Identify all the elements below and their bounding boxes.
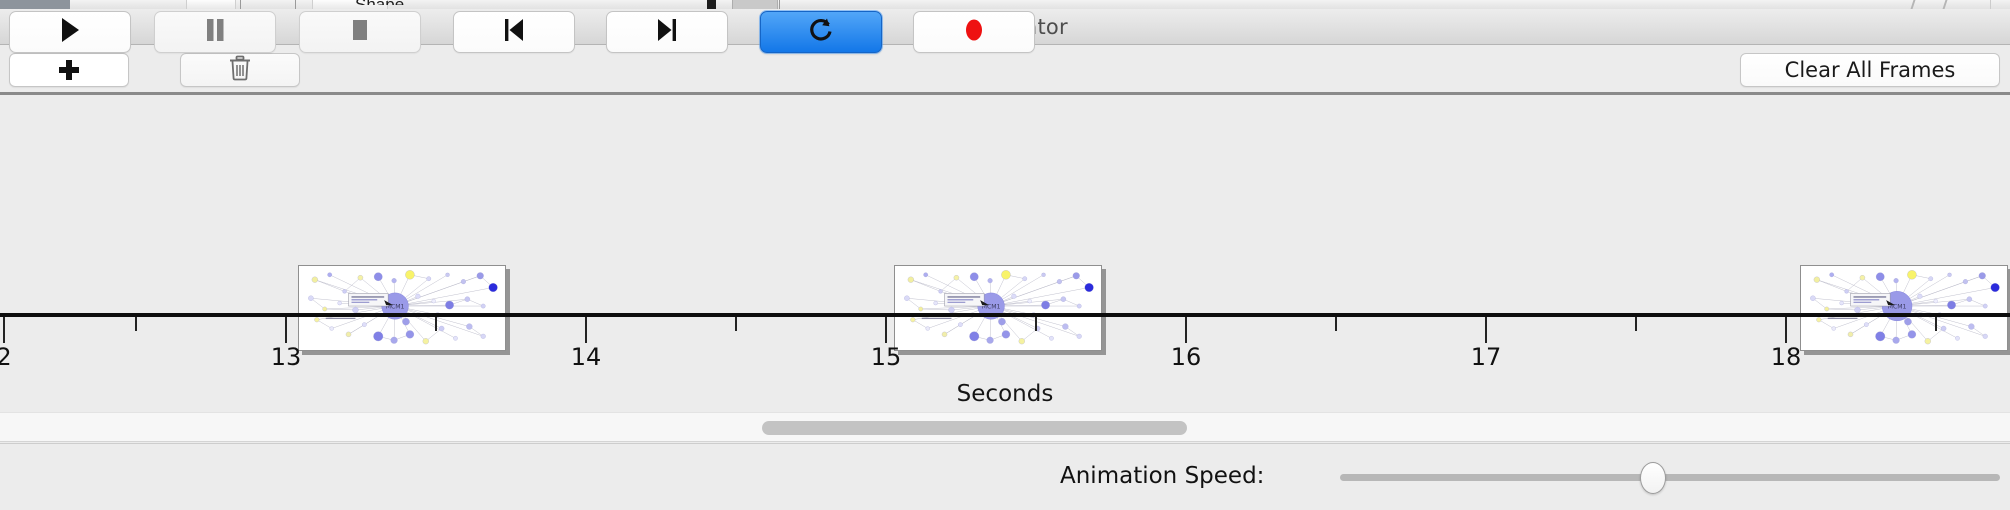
axis-tick-major — [1785, 317, 1787, 343]
timeline-frame-3[interactable]: MCM1 — [1800, 265, 2008, 351]
background-slash-a — [1911, 0, 1916, 9]
loop-icon — [807, 15, 835, 50]
background-window-titlebar — [0, 0, 70, 9]
axis-tick-major — [885, 317, 887, 343]
axis-tick-minor — [735, 317, 737, 331]
delete-frame-button[interactable] — [180, 53, 300, 87]
background-tab-a — [186, 0, 236, 9]
play-icon — [57, 16, 83, 49]
axis-tick-major — [585, 317, 587, 343]
timeline-frame-1[interactable]: MCM1 — [298, 265, 506, 351]
axis-tick-label: 17 — [1471, 343, 1502, 371]
timeline-axis — [0, 313, 2010, 317]
background-divider-c — [779, 0, 780, 9]
axis-tick-major — [3, 317, 5, 343]
loop-button[interactable] — [760, 11, 882, 53]
background-divider-a — [240, 0, 241, 9]
axis-tick-major — [1185, 317, 1187, 343]
trash-icon — [228, 55, 252, 86]
pause-button — [154, 11, 276, 53]
add-frame-button[interactable] — [9, 53, 129, 87]
axis-tick-minor — [435, 317, 437, 331]
timeline-scrollbar-thumb[interactable] — [762, 421, 1187, 435]
axis-tick-label: 13 — [271, 343, 302, 371]
record-icon — [961, 15, 987, 50]
axis-tick-label: 14 — [571, 343, 602, 371]
axis-tick-minor — [1335, 317, 1337, 331]
axis-tick-label: 15 — [871, 343, 902, 371]
skip-start-icon — [499, 16, 529, 49]
background-divider-b — [295, 0, 296, 9]
axis-tick-minor — [1935, 317, 1937, 331]
cyanimator-window: Shape CyAnimator — [0, 0, 2010, 510]
clear-all-frames-label: Clear All Frames — [1785, 58, 1956, 82]
plus-icon — [59, 60, 79, 80]
record-button[interactable] — [913, 11, 1035, 53]
axis-tick-major — [1485, 317, 1487, 343]
axis-tick-label: 16 — [1171, 343, 1202, 371]
timeline-frame-2[interactable]: MCM1 — [894, 265, 1102, 351]
animation-speed-label: Animation Speed: — [1060, 443, 1264, 510]
stop-icon — [347, 16, 373, 49]
axis-tick-minor — [1035, 317, 1037, 331]
skip-end-icon — [652, 16, 682, 49]
background-slash-b — [1943, 0, 1948, 9]
clear-all-frames-button[interactable]: Clear All Frames — [1740, 53, 2000, 87]
axis-tick-minor — [1635, 317, 1637, 331]
skip-start-button[interactable] — [453, 11, 575, 53]
axis-tick-major — [285, 317, 287, 343]
axis-tick-label: 18 — [1771, 343, 1802, 371]
axis-tick-label: 2 — [0, 343, 12, 371]
axis-tick-minor — [135, 317, 137, 331]
background-cursor-blob — [707, 0, 716, 9]
animation-speed-slider[interactable] — [1340, 474, 2000, 481]
skip-end-button[interactable] — [606, 11, 728, 53]
background-window-label: Shape — [355, 0, 404, 5]
pause-icon — [202, 16, 228, 49]
background-divider-d — [1990, 0, 1991, 9]
animation-speed-slider-thumb[interactable] — [1640, 462, 1666, 494]
background-window-strip: Shape — [0, 0, 2010, 9]
stop-button — [299, 11, 421, 53]
play-button[interactable] — [9, 11, 131, 53]
timeline-scrollbar[interactable] — [0, 412, 2010, 442]
timeline-panel[interactable]: MCM1 MCM1 MCM1 — [0, 92, 2010, 405]
axis-title: Seconds — [0, 381, 2010, 407]
background-button — [732, 0, 778, 9]
